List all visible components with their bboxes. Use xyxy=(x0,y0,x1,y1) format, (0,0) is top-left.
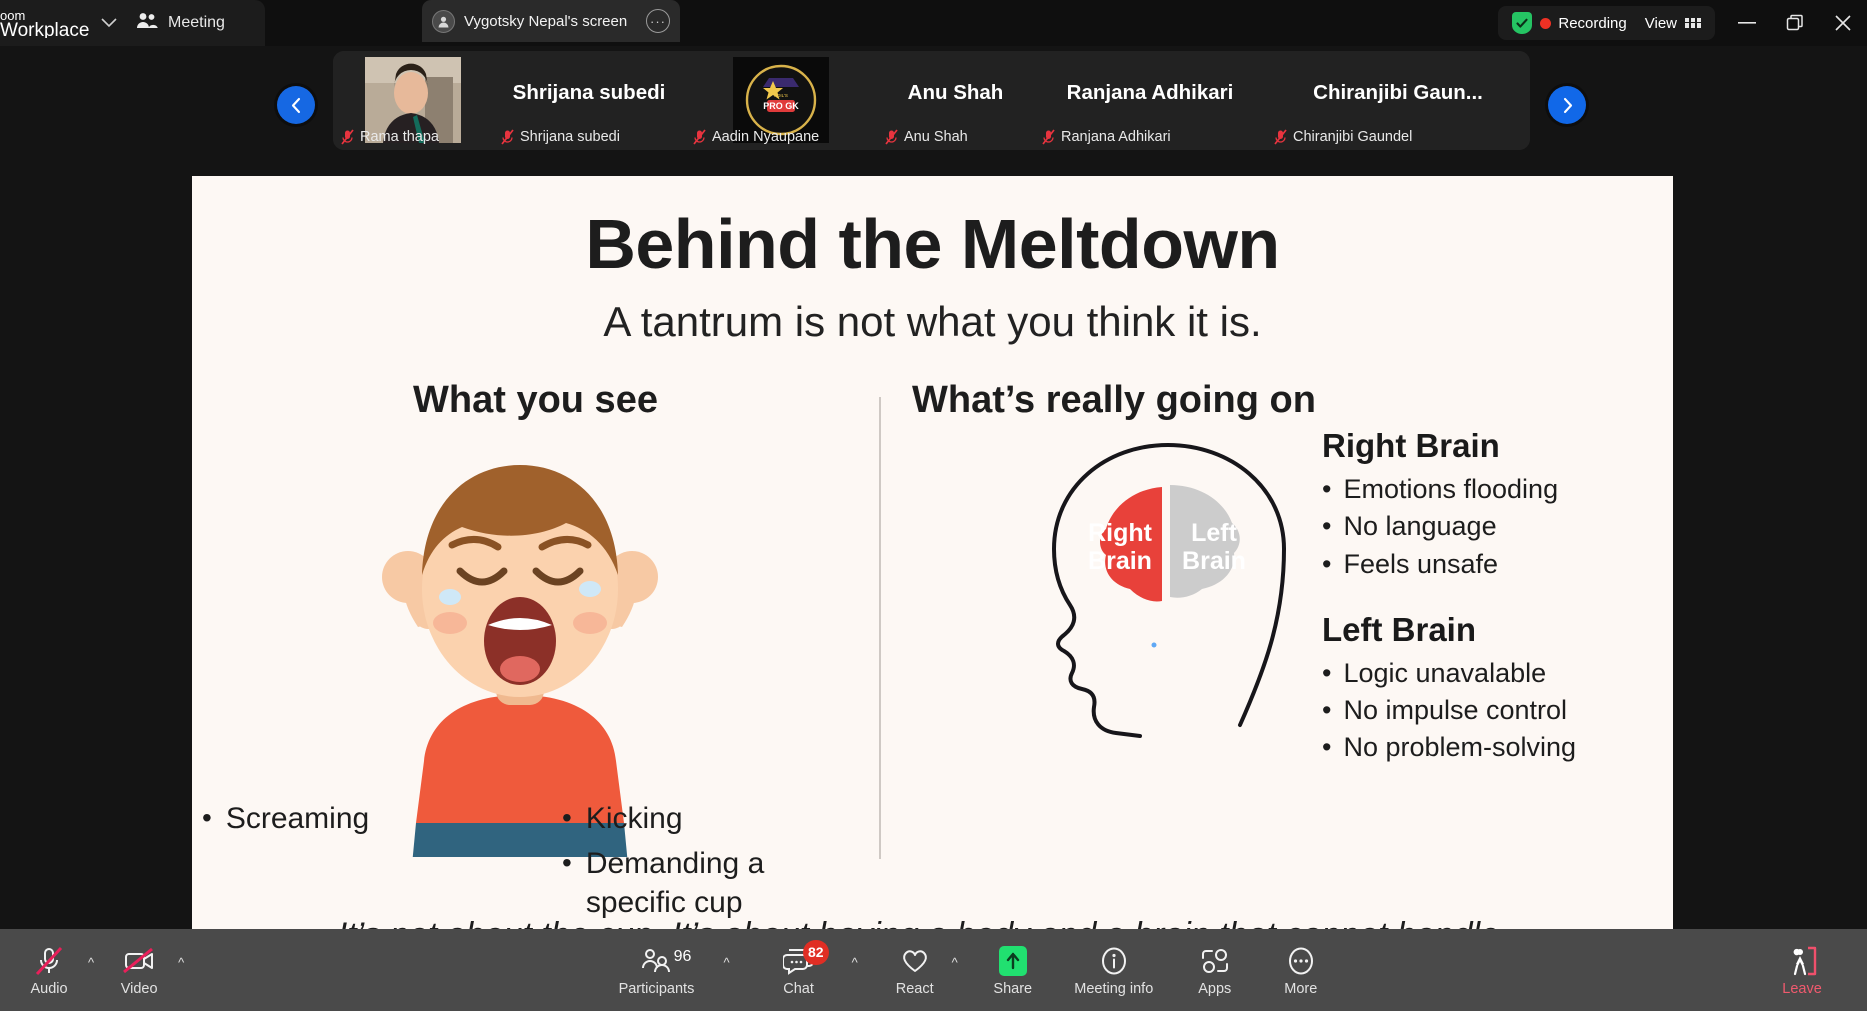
bullet-dot-icon: • xyxy=(562,844,572,922)
more-label: More xyxy=(1284,982,1317,997)
bullet-item: • No problem-solving xyxy=(1322,729,1662,766)
audio-label: Audio xyxy=(30,982,67,997)
svg-text:Brain: Brain xyxy=(1088,547,1152,575)
slide-subtitle: A tantrum is not what you think it is. xyxy=(192,301,1673,343)
presentation-slide: Behind the Meltdown A tantrum is not wha… xyxy=(192,176,1673,936)
video-button[interactable]: Video xyxy=(96,929,182,1011)
bullet-item: • Kicking xyxy=(562,799,862,838)
heart-icon xyxy=(900,944,930,978)
apps-icon xyxy=(1200,944,1230,978)
bullet-dot-icon: • xyxy=(1322,692,1331,729)
left-column-heading: What you see xyxy=(192,379,879,422)
chat-button[interactable]: 82 Chat xyxy=(756,929,842,1011)
leave-label: Leave xyxy=(1782,982,1822,997)
left-brain-heading: Left Brain xyxy=(1322,611,1662,649)
right-brain-heading: Right Brain xyxy=(1322,427,1662,465)
info-icon xyxy=(1099,944,1129,978)
bullet-text: Logic unavalable xyxy=(1343,655,1546,692)
zoom-meeting-window: oom Workplace Meeting xyxy=(0,0,1867,1011)
left-column: What you see xyxy=(192,379,879,422)
right-column: What’s really going on Right Brain xyxy=(892,379,1673,422)
share-button[interactable]: Share xyxy=(970,929,1056,1011)
meeting-info-label: Meeting info xyxy=(1074,982,1153,997)
bullet-text: No problem-solving xyxy=(1343,729,1576,766)
share-screen-icon xyxy=(999,944,1027,978)
bullet-text: Kicking xyxy=(586,799,683,838)
bullet-text: Emotions flooding xyxy=(1343,471,1558,508)
bullet-dot-icon: • xyxy=(1322,546,1331,583)
bullet-dot-icon: • xyxy=(1322,655,1331,692)
bullet-text: Feels unsafe xyxy=(1343,546,1498,583)
bullet-dot-icon: • xyxy=(1322,508,1331,545)
react-label: React xyxy=(896,982,934,997)
leave-button[interactable]: Leave xyxy=(1759,929,1845,1011)
participants-button[interactable]: 96 Participants xyxy=(601,929,711,1011)
share-label: Share xyxy=(993,982,1032,997)
chat-unread-badge: 82 xyxy=(803,940,829,965)
right-column-heading: What’s really going on xyxy=(892,379,1673,422)
participants-count: 96 xyxy=(674,948,692,966)
bullet-text: Demanding a specific cup xyxy=(586,844,862,922)
apps-button[interactable]: Apps xyxy=(1172,929,1258,1011)
bullet-text: No language xyxy=(1343,508,1496,545)
column-divider xyxy=(879,397,881,859)
chat-label: Chat xyxy=(783,982,814,997)
react-button[interactable]: React xyxy=(872,929,958,1011)
apps-label: Apps xyxy=(1198,982,1231,997)
bullet-item: • Screaming xyxy=(202,799,562,838)
bullet-dot-icon: • xyxy=(1322,471,1331,508)
left-bullet-groups: • Screaming • Kicking • Demanding xyxy=(202,799,882,928)
slide-title: Behind the Meltdown xyxy=(192,209,1673,279)
bullet-item: • No language xyxy=(1322,508,1662,545)
chat-caret-icon[interactable]: ^ xyxy=(852,955,858,970)
right-bullet-sections: Right Brain • Emotions flooding • No lan… xyxy=(1322,427,1662,767)
slide-columns: What you see xyxy=(192,379,1673,899)
bullet-dot-icon: • xyxy=(202,799,212,838)
bullet-item: • Logic unavalable xyxy=(1322,655,1662,692)
video-label: Video xyxy=(121,982,158,997)
svg-text:Brain: Brain xyxy=(1182,547,1246,575)
camera-muted-icon xyxy=(122,944,156,978)
participants-caret-icon[interactable]: ^ xyxy=(723,955,729,970)
participants-icon: 96 xyxy=(641,944,671,978)
shared-content-stage: Behind the Meltdown A tantrum is not wha… xyxy=(0,0,1867,1011)
bullet-item: • Emotions flooding xyxy=(1322,471,1662,508)
crying-child-illustration xyxy=(300,437,740,857)
bullet-dot-icon: • xyxy=(562,799,572,838)
bullet-item: • No impulse control xyxy=(1322,692,1662,729)
participants-label: Participants xyxy=(619,982,695,997)
bullet-text: No impulse control xyxy=(1343,692,1567,729)
brain-head-diagram: Right Brain Left Brain xyxy=(992,431,1352,761)
left-bullets-col1: • Screaming xyxy=(202,799,562,928)
more-dots-icon xyxy=(1286,944,1316,978)
bullet-text: Screaming xyxy=(226,799,369,838)
microphone-muted-icon xyxy=(34,944,64,978)
chat-icon: 82 xyxy=(783,944,815,978)
svg-text:Right: Right xyxy=(1088,519,1153,547)
leave-door-icon xyxy=(1786,944,1818,978)
more-button[interactable]: More xyxy=(1258,929,1344,1011)
meeting-toolbar: Audio ^ Video ^ xyxy=(0,929,1867,1011)
left-bullets-col2: • Kicking • Demanding a specific cup xyxy=(562,799,862,928)
bullet-item: • Demanding a specific cup xyxy=(562,844,862,922)
svg-text:Left: Left xyxy=(1191,519,1238,547)
bullet-dot-icon: • xyxy=(1322,729,1331,766)
meeting-info-button[interactable]: Meeting info xyxy=(1056,929,1172,1011)
audio-button[interactable]: Audio xyxy=(6,929,92,1011)
bullet-item: • Feels unsafe xyxy=(1322,546,1662,583)
